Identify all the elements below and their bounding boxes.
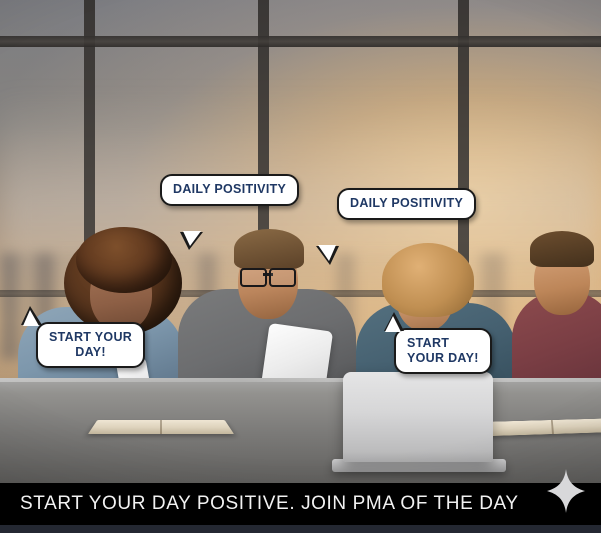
- hair-front: [76, 227, 172, 293]
- hair: [530, 231, 594, 267]
- promo-poster: DAILY POSITIVITY DAILY POSITIVITY START …: [0, 0, 601, 533]
- bottom-banner: START YOUR DAY POSITIVE. JOIN PMA OF THE…: [0, 483, 601, 525]
- laptop-device: [343, 372, 493, 462]
- glasses-lens-left: [240, 268, 267, 287]
- glasses-icon: [240, 268, 296, 283]
- footer-strip: [0, 525, 601, 533]
- open-notebook: [88, 420, 234, 434]
- window-mullion-horizontal: [0, 36, 601, 47]
- glasses-lens-right: [269, 268, 296, 287]
- sparkle-icon: [547, 469, 585, 513]
- speech-bubble-start-your-day-left: START YOUR DAY!: [36, 322, 145, 368]
- photo-scene: [0, 0, 601, 486]
- banner-headline: START YOUR DAY POSITIVE. JOIN PMA OF THE…: [20, 493, 519, 515]
- table-edge-highlight: [0, 378, 601, 382]
- hair: [382, 243, 474, 317]
- speech-bubble-daily-positivity-left: DAILY POSITIVITY: [160, 174, 299, 206]
- hair: [234, 229, 304, 269]
- speech-bubble-daily-positivity-right: DAILY POSITIVITY: [337, 188, 476, 220]
- speech-bubble-start-your-day-right: START YOUR DAY!: [394, 328, 492, 374]
